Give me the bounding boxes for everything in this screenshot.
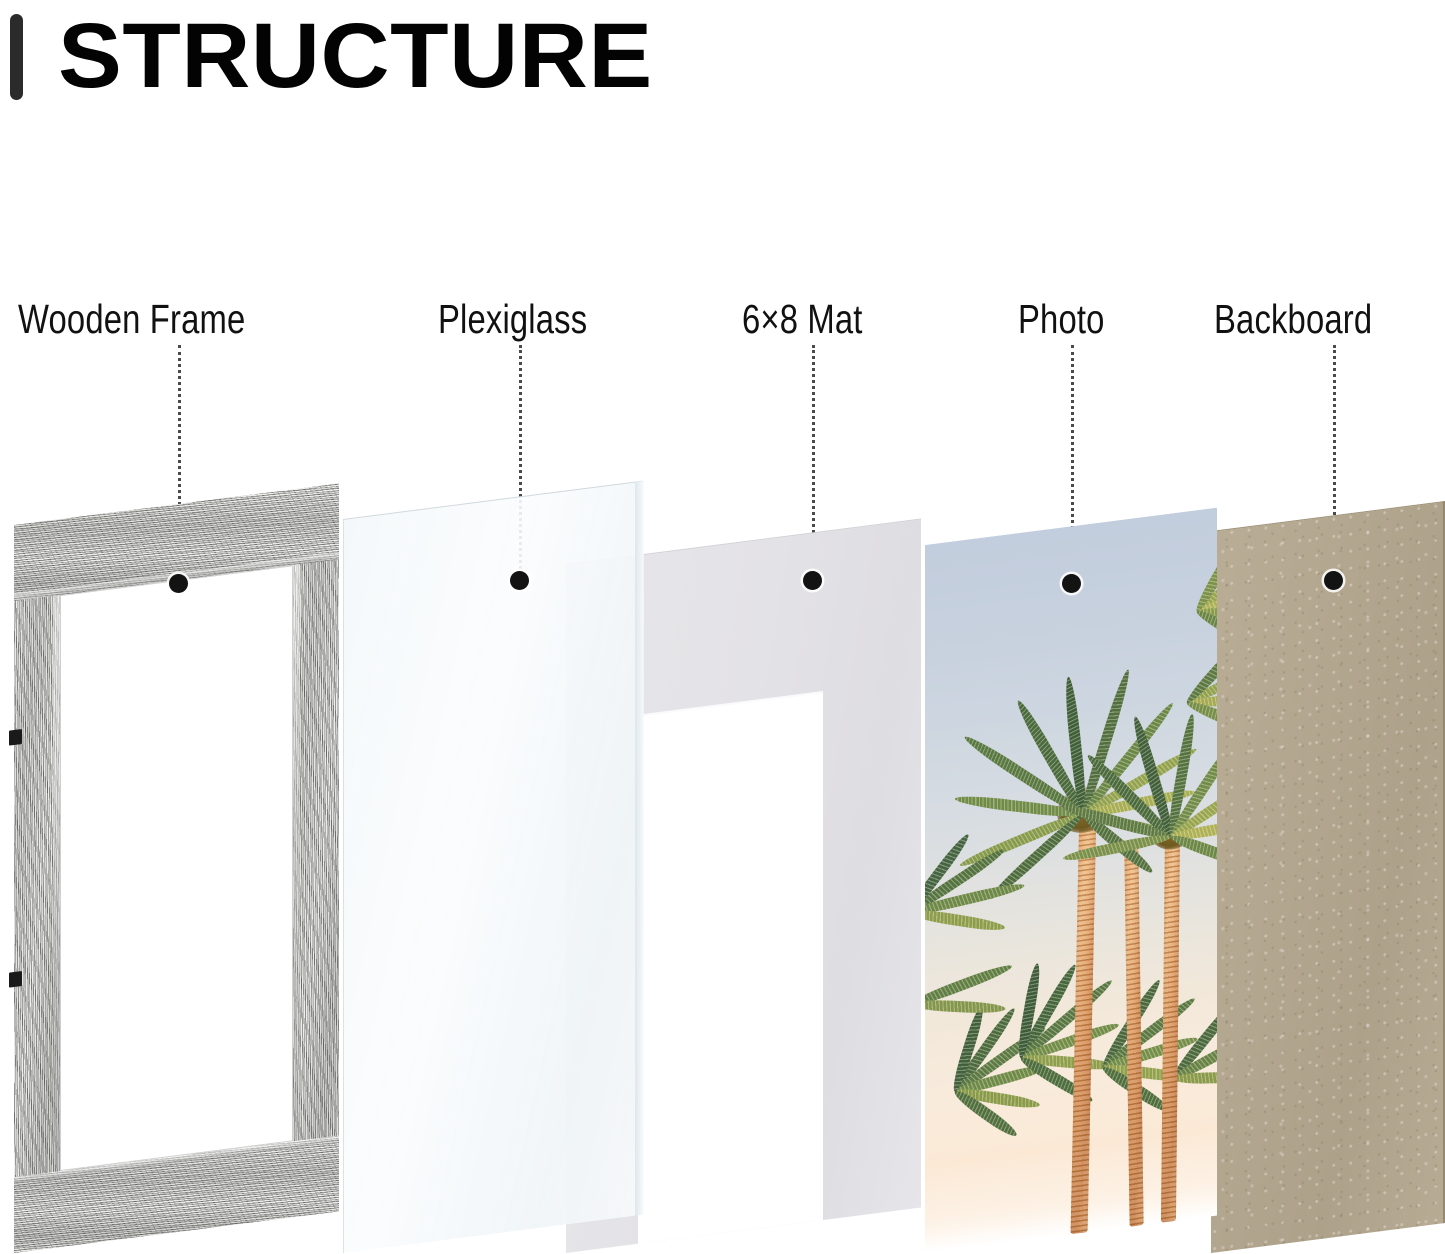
frame-hanging-tab-upper [9,729,22,746]
palm-trunk-2 [1124,848,1143,1227]
plexiglass-edge [635,480,644,1215]
frame-hanging-tab-lower [9,971,22,988]
callout-dot-wooden-frame [169,574,188,593]
mat-window-opening [638,691,823,1244]
palm-trunk-1 [1071,808,1097,1234]
exploded-view-diagram [0,0,1445,1253]
frame-rail-right [293,483,339,1217]
callout-dot-mat [803,571,822,590]
callout-dot-plexiglass [510,571,529,590]
layer-plexiglass [343,481,643,1253]
callout-dot-photo [1062,574,1081,593]
callout-dot-backboard [1324,571,1343,590]
frame-rail-left [14,519,60,1253]
layer-wooden-frame [14,483,339,1253]
plexiglass-surface [343,481,643,1253]
frame-opening [60,565,293,1171]
layer-photo [925,508,1217,1253]
photo-image [925,508,1217,1253]
layer-backboard [1211,501,1443,1253]
palm-trunk-3 [1161,830,1180,1222]
backboard-surface [1211,501,1443,1253]
